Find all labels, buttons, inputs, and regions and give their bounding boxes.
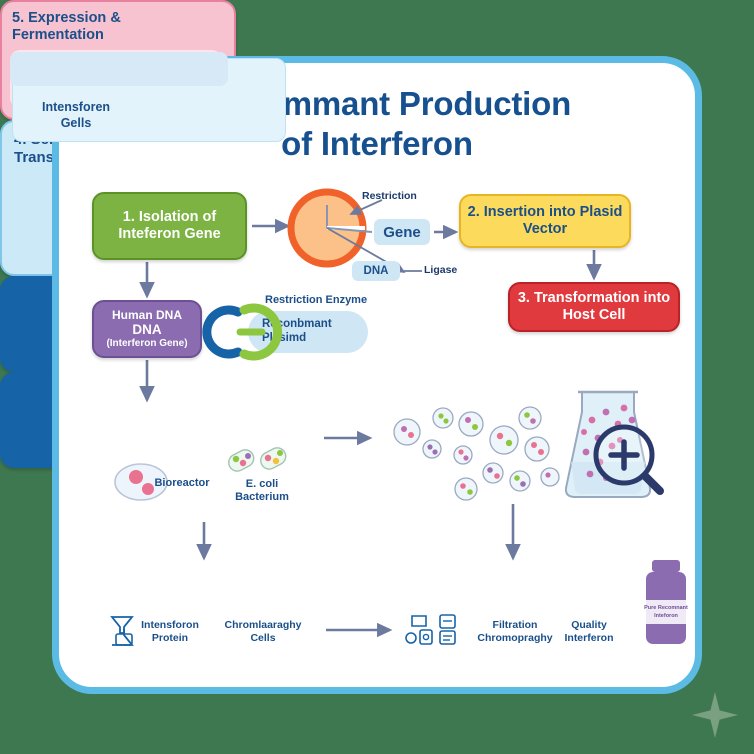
step-6b-item-2: Quality Interferon [548, 619, 630, 645]
gene-label: Gene [374, 219, 430, 245]
step-6b-inner-panel [10, 52, 228, 86]
human-dna-line-1: Human DNA [112, 308, 182, 322]
restriction-label: Restriction [362, 190, 417, 202]
human-dna-line-3: (Interferon Gene) [106, 338, 187, 350]
step-5-line-1: 5. Expression & [12, 10, 234, 27]
step-6a-item-1: Intensforon Protein [128, 619, 212, 645]
dna-label: DNA [352, 261, 400, 281]
step-1-label: 1. Isolation of Inteferon Gene [94, 209, 245, 244]
step-3-transformation-box[interactable]: 3. Transformation into Host Cell [508, 282, 680, 332]
restriction-enzyme-label: Restriction Enzyme [265, 294, 367, 306]
human-dna-box[interactable]: Human DNA DNA (Interferon Gene) [92, 300, 202, 358]
sparkle-icon [692, 692, 738, 738]
step-3-label: 3. Transformation into Host Cell [510, 290, 678, 325]
transformed-cells-label: Intensforen Gells [26, 100, 126, 131]
vial-label-line-1: Pure Recomnant [640, 604, 692, 612]
recombinant-plasmid-pill: Reconbmant Plasimd [248, 311, 368, 353]
human-dna-line-2: DNA [132, 322, 161, 338]
step-6a-item-2: Chromlaaraghy Cells [213, 619, 313, 645]
step-5-header: 5. Expression & Fermentation [2, 2, 234, 44]
step-1-isolation-box[interactable]: 1. Isolation of Inteferon Gene [92, 192, 247, 260]
step-2-insertion-box[interactable]: 2. Insertion into Plasid Vector [459, 194, 631, 248]
vial-label-line-2: Inteforon [640, 612, 692, 620]
recombinant-plasmid-line-2: Plasimd [262, 332, 306, 346]
bioreactor-label: Bioreactor [147, 477, 217, 490]
infographic-canvas: Reconmmant Production of Interferon 1. I… [0, 0, 754, 754]
ecoli-label: E. coli Bacterium [222, 478, 302, 504]
step-5-line-2: Fermentation [12, 27, 234, 44]
vial-label: Pure Recomnant Inteforon [640, 604, 692, 621]
step-2-label: 2. Insertion into Plasid Vector [461, 204, 629, 239]
recombinant-plasmid-line-1: Reconbmant [262, 318, 332, 332]
ligase-label: Ligase [424, 264, 457, 276]
